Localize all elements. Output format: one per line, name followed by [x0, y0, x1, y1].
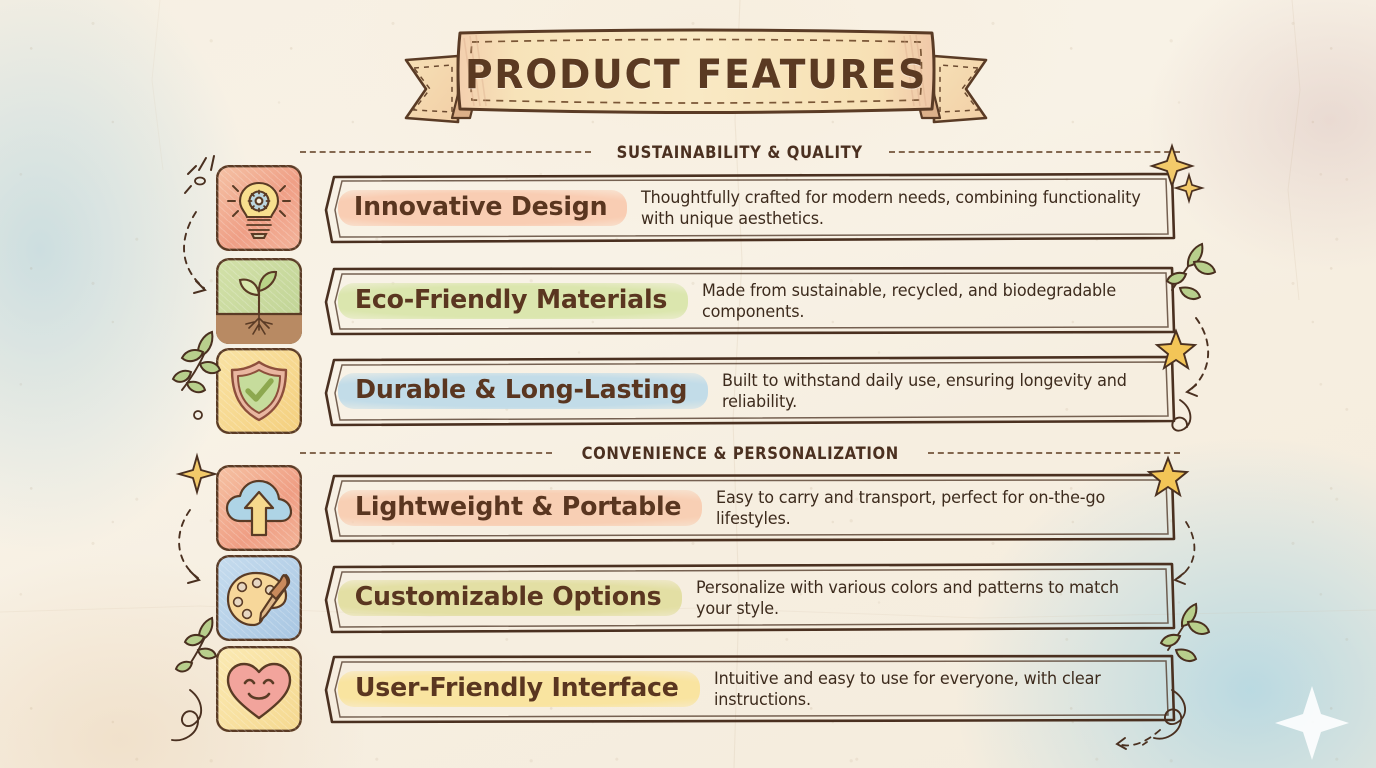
- feature-row-user-friendly-interface[interactable]: User-Friendly Interface Intuitive and ea…: [216, 646, 1176, 732]
- shield-check-icon: [216, 348, 302, 434]
- feature-title-highlight: Innovative Design: [338, 190, 627, 226]
- leaf-branch-icon: [173, 332, 220, 392]
- feature-title: Eco-Friendly Materials: [355, 285, 667, 315]
- feature-title-highlight: Lightweight & Portable: [338, 490, 702, 526]
- feature-card[interactable]: Innovative Design Thoughtfully crafted f…: [320, 172, 1176, 244]
- small-circle-icon: [194, 411, 202, 419]
- dashed-curve-arrow: [1175, 522, 1194, 584]
- feature-title-highlight: Durable & Long-Lasting: [338, 373, 708, 409]
- feature-row-eco-friendly-materials[interactable]: Eco-Friendly Materials Made from sustain…: [216, 258, 1176, 344]
- feature-title-highlight: Eco-Friendly Materials: [338, 283, 688, 319]
- feature-row-lightweight-portable[interactable]: Lightweight & Portable Easy to carry and…: [216, 465, 1176, 551]
- feature-description: Made from sustainable, recycled, and bio…: [702, 280, 1148, 322]
- dashed-curve-arrow: [179, 510, 199, 583]
- sprout-soil-icon: [216, 258, 302, 344]
- feature-description: Intuitive and easy to use for everyone, …: [714, 668, 1149, 710]
- feature-title-highlight: Customizable Options: [338, 580, 682, 616]
- dashed-curve-arrow: [184, 212, 205, 293]
- feature-title: Innovative Design: [354, 192, 608, 222]
- dashed-rule-right: [889, 151, 1180, 153]
- cloud-upload-icon: [216, 465, 302, 551]
- white-sparkle-icon: [1275, 686, 1349, 760]
- section-header-convenience: CONVENIENCE & PERSONALIZATION: [300, 442, 1180, 464]
- feature-title: User-Friendly Interface: [355, 673, 679, 703]
- feature-title: Durable & Long-Lasting: [355, 375, 687, 405]
- section-label: SUSTAINABILITY & QUALITY: [617, 143, 863, 162]
- feature-card[interactable]: User-Friendly Interface Intuitive and ea…: [320, 653, 1176, 725]
- title-banner: PRODUCT FEATURES: [400, 18, 992, 124]
- feature-card[interactable]: Durable & Long-Lasting Built to withstan…: [320, 355, 1176, 427]
- feature-row-durable-long-lasting[interactable]: Durable & Long-Lasting Built to withstan…: [216, 348, 1176, 434]
- sparkle-burst-icon: [185, 156, 214, 193]
- feature-row-customizable-options[interactable]: Customizable Options Personalize with va…: [216, 555, 1176, 641]
- dashed-rule-right: [928, 452, 1180, 454]
- feature-card[interactable]: Customizable Options Personalize with va…: [320, 562, 1176, 634]
- palette-brush-icon: [216, 555, 302, 641]
- dashed-curve-arrow: [1117, 730, 1160, 749]
- smiling-heart-icon: [216, 646, 302, 732]
- section-header-sustainability: SUSTAINABILITY & QUALITY: [300, 141, 1180, 163]
- swirl-icon: [172, 690, 201, 740]
- feature-description: Easy to carry and transport, perfect for…: [716, 487, 1148, 529]
- feature-card[interactable]: Eco-Friendly Materials Made from sustain…: [320, 265, 1176, 337]
- dashed-rule-left: [300, 452, 552, 454]
- feature-row-innovative-design[interactable]: Innovative Design Thoughtfully crafted f…: [216, 165, 1176, 251]
- feature-title: Lightweight & Portable: [355, 492, 681, 522]
- infographic-canvas: PRODUCT FEATURES SUSTAINABILITY & QUALIT…: [0, 0, 1376, 768]
- lightbulb-gear-icon: [216, 165, 302, 251]
- page-title: PRODUCT FEATURES: [418, 52, 974, 98]
- feature-description: Thoughtfully crafted for modern needs, c…: [641, 187, 1146, 229]
- feature-title: Customizable Options: [355, 582, 662, 612]
- section-label: CONVENIENCE & PERSONALIZATION: [581, 444, 898, 463]
- feature-description: Built to withstand daily use, ensuring l…: [722, 370, 1148, 412]
- dashed-curve-arrow: [1187, 318, 1208, 396]
- dashed-rule-left: [300, 151, 591, 153]
- four-point-sparkle-icon: [179, 456, 215, 492]
- feature-title-highlight: User-Friendly Interface: [338, 671, 700, 707]
- feature-card[interactable]: Lightweight & Portable Easy to carry and…: [320, 472, 1176, 544]
- leaf-branch-icon: [176, 618, 216, 671]
- feature-description: Personalize with various colors and patt…: [696, 577, 1148, 619]
